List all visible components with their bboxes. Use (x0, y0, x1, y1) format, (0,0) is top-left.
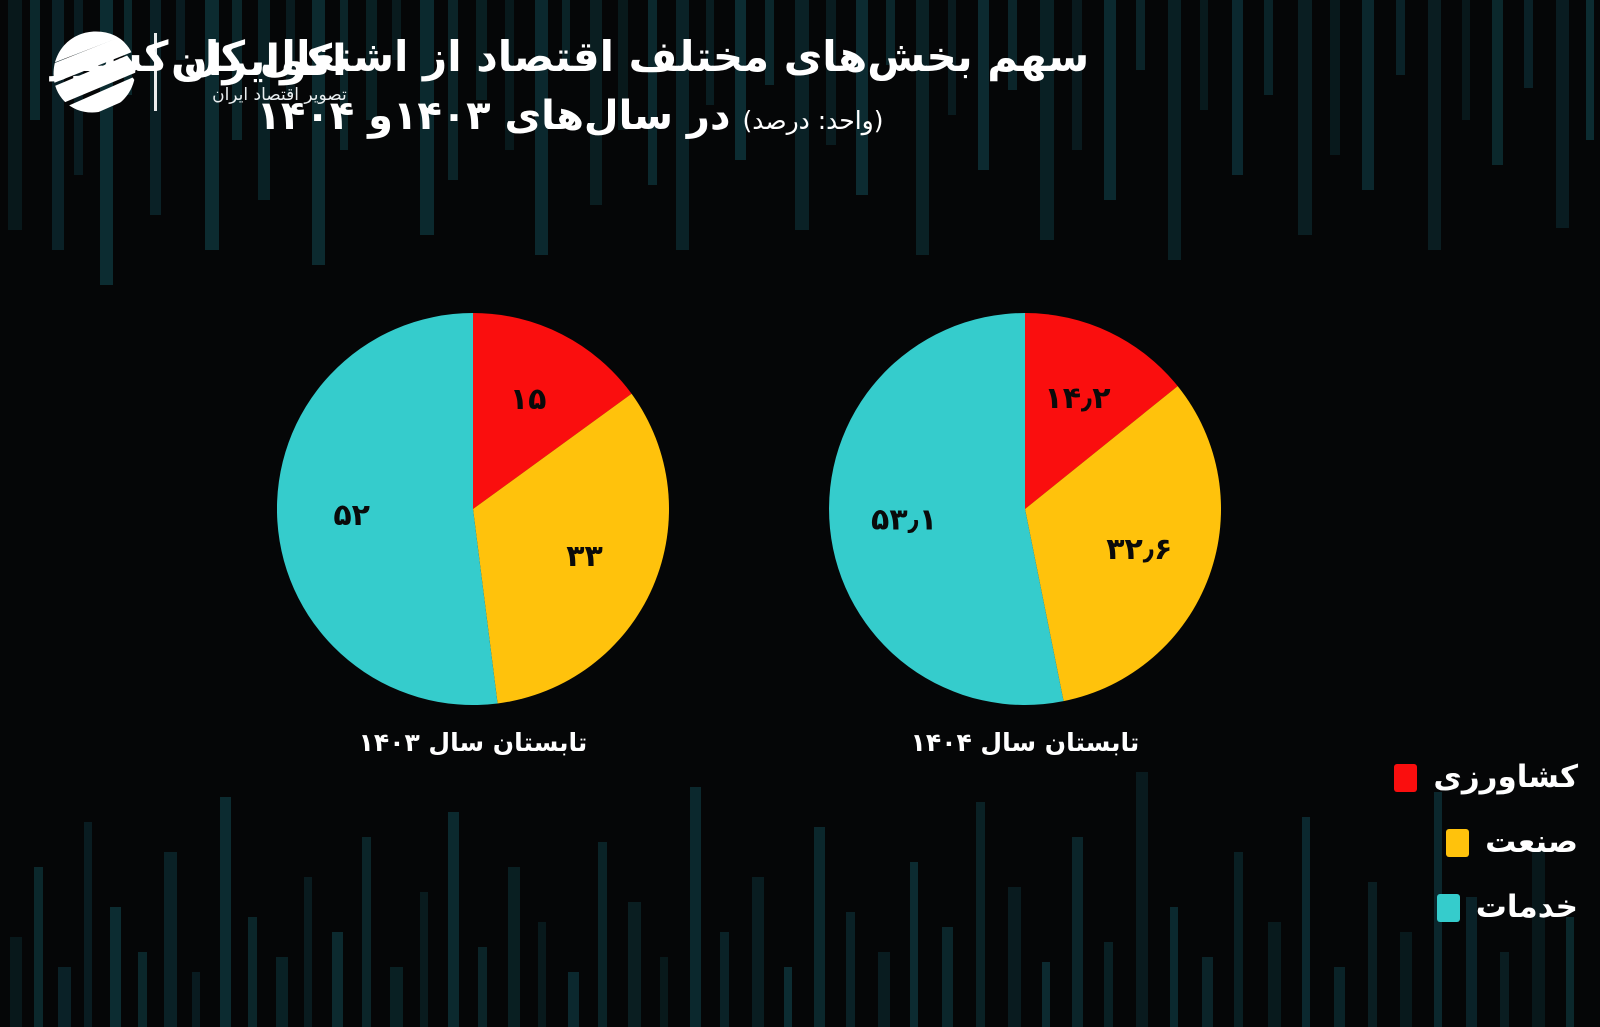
legend-swatch-industry (1446, 829, 1469, 857)
background-bar (332, 932, 343, 1027)
background-bar (976, 802, 985, 1027)
background-bar (568, 972, 579, 1027)
legend-swatch-services (1437, 894, 1460, 922)
background-bar (58, 967, 71, 1027)
background-bar (390, 967, 403, 1027)
background-bar (1042, 962, 1050, 1027)
title-block: سهم بخش‌های مختلف اقتصاد از اشتغال کل کش… (0, 30, 1560, 141)
legend-item-services[interactable]: خدمات (1437, 892, 1578, 923)
header: اکوایران تصویر اقتصاد ایران سهم بخش‌های … (0, 0, 1600, 200)
infographic-canvas: اکوایران تصویر اقتصاد ایران سهم بخش‌های … (0, 0, 1600, 1027)
background-bar (10, 937, 22, 1027)
background-bar (1202, 957, 1213, 1027)
background-bar (846, 912, 855, 1027)
background-bar (1008, 887, 1021, 1027)
background-bar (910, 862, 918, 1027)
pie-pie-1403: ۱۵۳۳۵۲ (277, 313, 669, 705)
pie-value-label: ۵۲ (333, 498, 370, 533)
background-bar (1170, 907, 1178, 1027)
background-bar (1566, 917, 1574, 1027)
chart-legend: کشاورزی صنعت خدمات (1394, 762, 1578, 923)
background-bar (720, 932, 729, 1027)
page-subtitle: در سال‌های ۱۴۰۳و ۱۴۰۴ (256, 91, 730, 141)
background-bar (1500, 952, 1509, 1027)
background-bar (478, 947, 487, 1027)
background-bar (628, 902, 641, 1027)
background-bar (248, 917, 257, 1027)
background-bar (752, 877, 764, 1027)
background-bar (1136, 772, 1148, 1027)
pie-value-label: ۱۴٫۲ (1044, 381, 1110, 416)
background-bar (1072, 837, 1083, 1027)
pie-chart-1404: ۱۴٫۲۳۲٫۶۵۳٫۱ (829, 313, 1221, 705)
pie-value-label: ۱۵ (510, 382, 547, 417)
background-bar (538, 922, 546, 1027)
legend-swatch-agriculture (1394, 764, 1417, 792)
background-bar (784, 967, 792, 1027)
background-bar (508, 867, 520, 1027)
background-bar (598, 842, 607, 1027)
background-bar (878, 952, 890, 1027)
legend-item-agriculture[interactable]: کشاورزی (1394, 762, 1578, 793)
background-bar (276, 957, 288, 1027)
legend-label-services: خدمات (1476, 892, 1578, 923)
pie-pie-1404: ۱۴٫۲۳۲٫۶۵۳٫۱ (829, 313, 1221, 705)
legend-label-industry: صنعت (1485, 827, 1578, 858)
page-title: سهم بخش‌های مختلف اقتصاد از اشتغال کل کش… (0, 30, 1560, 85)
pie-caption-1403: تابستان سال ۱۴۰۳ (277, 728, 669, 757)
background-bar (304, 877, 312, 1027)
pie-chart-1403: ۱۵۳۳۵۲ (277, 313, 669, 705)
subtitle-row: (واحد: درصد) در سال‌های ۱۴۰۳و ۱۴۰۴ (0, 91, 1560, 141)
pie-value-label: ۳۲٫۶ (1106, 532, 1172, 567)
legend-label-agriculture: کشاورزی (1433, 762, 1578, 793)
charts-area: ۱۵۳۳۵۲ تابستان سال ۱۴۰۳ ۱۴٫۲۳۲٫۶۵۳٫۱ تاب… (0, 300, 1600, 800)
background-bar (138, 952, 147, 1027)
background-bar (1104, 942, 1113, 1027)
background-bar (1268, 922, 1281, 1027)
background-bar (660, 957, 668, 1027)
pie-value-label: ۵۳٫۱ (871, 503, 937, 538)
background-bar (690, 787, 701, 1027)
background-bar (1400, 932, 1412, 1027)
background-bar (1334, 967, 1345, 1027)
background-bar (942, 927, 953, 1027)
background-bar (814, 827, 825, 1027)
background-bar (1302, 817, 1310, 1027)
background-bar (84, 822, 92, 1027)
background-bar (110, 907, 121, 1027)
background-bar (220, 797, 231, 1027)
pie-caption-1404: تابستان سال ۱۴۰۴ (829, 728, 1221, 757)
pie-value-label: ۳۳ (566, 539, 603, 574)
background-bar (362, 837, 371, 1027)
background-bar (34, 867, 43, 1027)
background-bar (1234, 852, 1243, 1027)
pie-slice-services[interactable] (277, 313, 498, 705)
unit-note: (واحد: درصد) (742, 105, 883, 136)
background-bar (164, 852, 177, 1027)
background-bar (448, 812, 459, 1027)
background-bar (420, 892, 428, 1027)
legend-item-industry[interactable]: صنعت (1446, 827, 1578, 858)
background-bar (192, 972, 200, 1027)
background-bar (1368, 882, 1377, 1027)
